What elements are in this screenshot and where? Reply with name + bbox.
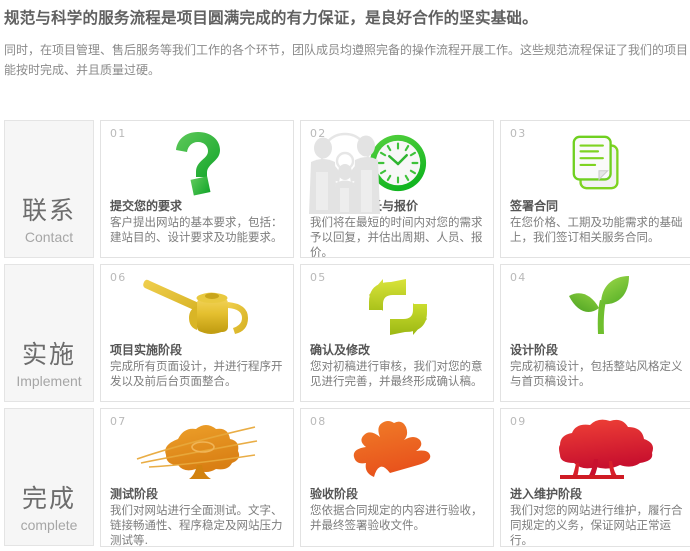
service-process-page: 规范与科学的服务流程是项目圆满完成的有力保证，是良好合作的坚实基础。 同时，在项… xyxy=(0,0,690,551)
step-description: 我们对网站进行全面测试。文字、链接畅通性、程序稳定及网站压力测试等. xyxy=(110,503,285,548)
step-card[interactable]: 05 xyxy=(300,264,494,402)
red-tree-icon xyxy=(510,417,685,485)
step-description: 客户提出网站的基本要求，包括：建站目的、设计要求及功能要求。 xyxy=(110,215,285,245)
stage-label-cn: 实施 xyxy=(22,340,76,370)
stage-label-en: Contact xyxy=(25,227,73,247)
step-title: 进入维护阶段 xyxy=(510,486,685,502)
step-card[interactable]: 06 xyxy=(100,264,294,402)
process-row: 完成 complete 07 xyxy=(4,408,686,547)
step-card[interactable]: 08 验收阶段 您依据合同规定的内容进行验收，并最终签署验收文件。 xyxy=(300,408,494,547)
step-description: 我们将在最短的时间内对您的需求予以回复，并估出周期、人员、报价。 xyxy=(310,215,485,260)
stage-label-implement: 实施 Implement xyxy=(4,264,94,402)
step-title: 项目实施阶段 xyxy=(110,342,285,358)
step-title: 测试阶段 xyxy=(110,486,285,502)
step-description: 我们对您的网站进行维护，履行合同规定的义务，保证网站正常运行。 xyxy=(510,503,685,548)
step-title: 验收阶段 xyxy=(310,486,485,502)
step-title: 确认及修改 xyxy=(310,342,485,358)
step-description: 在您价格、工期及功能需求的基础上，我们签订相关服务合同。 xyxy=(510,215,685,245)
step-card[interactable]: 07 xyxy=(100,408,294,547)
step-title: 设计阶段 xyxy=(510,342,685,358)
stage-label-en: complete xyxy=(21,515,78,535)
step-description: 您对初稿进行审核，我们对您的意见进行完善，并最终形成确认稿。 xyxy=(310,359,485,389)
step-description: 您依据合同规定的内容进行验收，并最终签署验收文件。 xyxy=(310,503,485,533)
stage-label-cn: 完成 xyxy=(22,484,76,514)
autumn-tree-icon xyxy=(110,417,285,485)
step-card[interactable]: 04 xyxy=(500,264,690,402)
stage-label-complete: 完成 complete xyxy=(4,408,94,546)
intro-section: 规范与科学的服务流程是项目圆满完成的有力保证，是良好合作的坚实基础。 同时，在项… xyxy=(0,0,690,80)
maple-leaf-icon xyxy=(310,417,485,485)
step-description: 完成所有页面设计，并进行程序开发以及前后台页面整合。 xyxy=(110,359,285,389)
intro-paragraph: 同时，在项目管理、售后服务等我们工作的各个环节，团队成员均遵照完备的操作流程开展… xyxy=(4,40,688,80)
page-title: 规范与科学的服务流程是项目圆满完成的有力保证，是良好合作的坚实基础。 xyxy=(4,6,686,32)
step-description: 完成初稿设计，包括整站风格定义与首页稿设计。 xyxy=(510,359,685,389)
refresh-arrows-icon xyxy=(310,273,485,341)
process-row: 实施 Implement 06 xyxy=(4,264,686,402)
watering-can-icon xyxy=(110,273,285,341)
sprout-icon xyxy=(510,273,685,341)
stage-label-en: Implement xyxy=(16,371,81,391)
step-card[interactable]: 09 xyxy=(500,408,690,547)
process-grid: 联系 Contact 01 xyxy=(4,120,686,551)
